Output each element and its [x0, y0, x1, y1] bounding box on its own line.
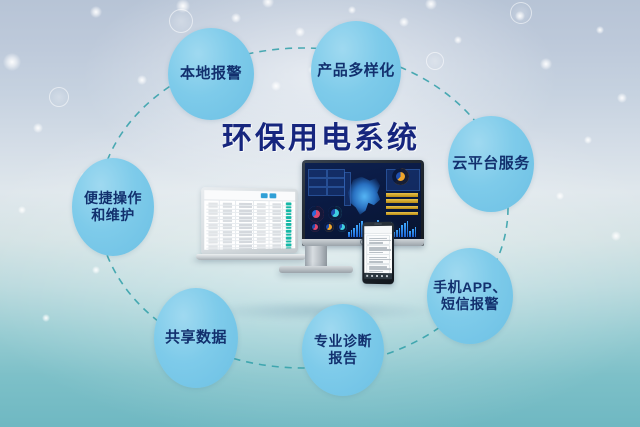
table-cell — [208, 224, 217, 226]
laptop-device — [196, 188, 306, 270]
dashboard-bar — [359, 223, 361, 237]
bubble-label: 手机APP、 短信报警 — [433, 279, 507, 312]
dashboard-alert-tile — [386, 199, 417, 203]
bubble-label: 产品多样化 — [317, 62, 395, 80]
table-cell — [223, 220, 232, 222]
dashboard-donut-gauge — [392, 168, 409, 185]
table-cell — [223, 209, 232, 211]
phone-bottom-nav[interactable] — [364, 273, 392, 279]
laptop-lid — [201, 187, 298, 255]
table-cell — [208, 213, 217, 215]
infographic-canvas: 环保用电系统 本地报警产品多样化云平台服务手机APP、 短信报警专业诊断 报告共… — [0, 0, 640, 427]
bubble-shared-data[interactable]: 共享数据 — [154, 288, 238, 388]
dashboard-alert-tile — [386, 193, 417, 197]
bubble-label: 共享数据 — [165, 329, 227, 347]
dashboard-bar — [399, 228, 401, 237]
phone-device — [362, 222, 394, 284]
table-cell — [223, 213, 232, 215]
dashboard-bar — [348, 232, 350, 237]
dashboard-donut-gauge — [310, 222, 320, 232]
monitor-stand-neck — [305, 246, 327, 268]
table-cell — [257, 217, 266, 219]
laptop-keyboard-deck — [195, 254, 306, 260]
nav-item-icon[interactable] — [381, 275, 383, 277]
bubble-cloud-platform[interactable]: 云平台服务 — [448, 116, 534, 212]
nav-item-icon[interactable] — [366, 275, 368, 277]
dashboard-alert-tile — [386, 206, 417, 210]
table-cell — [257, 231, 266, 233]
page-title: 环保用电系统 — [222, 113, 420, 157]
table-cell — [272, 213, 281, 215]
table-cell — [223, 206, 232, 208]
list-item[interactable] — [366, 254, 390, 264]
device-cluster — [196, 160, 436, 320]
table-cell — [208, 249, 217, 250]
phone-app-header — [364, 226, 392, 234]
bubble-diagnostic-report[interactable]: 专业诊断 报告 — [302, 304, 384, 396]
table-cell — [239, 217, 252, 219]
table-cell — [272, 248, 281, 250]
dashboard-kpi-panel — [308, 178, 326, 187]
table-cell — [257, 213, 266, 215]
nav-item-icon[interactable] — [386, 275, 388, 277]
table-cell — [239, 213, 252, 215]
table-cell — [223, 231, 232, 233]
bubble-label: 云平台服务 — [452, 155, 530, 173]
table-action-button[interactable] — [261, 193, 268, 198]
table-cell — [272, 224, 281, 226]
table-cell — [257, 248, 266, 250]
list-item-text — [369, 252, 383, 254]
dashboard-bar — [353, 228, 355, 237]
table-cell — [223, 217, 232, 219]
dashboard-bar — [396, 230, 398, 237]
table-cell — [272, 210, 281, 212]
table-cell — [208, 227, 217, 229]
dashboard-kpi-panel — [327, 187, 345, 196]
list-item-text — [369, 261, 383, 263]
table-cell — [239, 220, 252, 222]
table-cell — [257, 224, 266, 226]
bubble-label: 专业诊断 报告 — [314, 333, 372, 366]
dashboard-bar — [401, 225, 403, 236]
bubble-label: 便捷操作 和维护 — [84, 190, 142, 223]
bubble-local-alarm[interactable]: 本地报警 — [168, 28, 254, 120]
table-cell — [223, 202, 232, 204]
dashboard-donut-gauge — [328, 206, 342, 220]
table-cell — [257, 210, 266, 212]
dashboard-side-label — [344, 172, 351, 206]
table-cell — [208, 209, 217, 211]
row-status-badge — [286, 247, 292, 250]
dashboard-donut-gauge — [308, 206, 324, 222]
nav-item-icon[interactable] — [376, 275, 378, 277]
table-cell — [239, 224, 252, 226]
table-cell — [208, 216, 217, 218]
table-cell — [272, 220, 281, 222]
table-cell — [208, 206, 217, 208]
dashboard-bar — [415, 227, 417, 237]
bubble-label: 本地报警 — [180, 65, 242, 83]
dashboard-bar — [351, 230, 353, 237]
laptop-screen — [204, 190, 295, 250]
table-cell — [257, 227, 266, 229]
phone-body — [362, 222, 394, 285]
china-map-visual — [347, 177, 382, 217]
dashboard-kpi-panel — [327, 178, 345, 187]
dashboard-bar — [356, 225, 358, 236]
table-row — [206, 247, 293, 250]
table-cell — [223, 224, 232, 226]
table-cell — [257, 206, 266, 208]
list-item-text — [369, 242, 383, 244]
table-action-button[interactable] — [270, 193, 277, 198]
table-cell — [272, 217, 281, 219]
dashboard-bar — [407, 221, 409, 237]
dashboard-donut-gauge — [337, 222, 347, 232]
list-item[interactable] — [366, 235, 390, 245]
dashboard-bar — [412, 229, 414, 237]
dashboard-alert-tile — [386, 212, 417, 216]
dashboard-kpi-panel — [308, 187, 326, 196]
table-cell — [239, 210, 252, 212]
dashboard-kpi-panel — [308, 169, 326, 178]
phone-screen — [364, 226, 392, 279]
table-cell — [208, 231, 217, 233]
phone-speaker-icon — [374, 223, 382, 225]
table-cell — [223, 234, 232, 236]
bubble-product-diversity[interactable]: 产品多样化 — [311, 21, 401, 121]
dashboard-donut-gauge — [324, 222, 334, 232]
table-cell — [223, 227, 232, 229]
dashboard-kpi-panel — [327, 169, 345, 178]
table-cell — [257, 220, 266, 222]
bubble-mobile-app-sms[interactable]: 手机APP、 短信报警 — [427, 248, 513, 344]
dashboard-bar — [409, 231, 411, 236]
dashboard-bar — [404, 223, 406, 237]
table-cell — [223, 248, 232, 249]
table-cell — [208, 220, 217, 222]
table-cell — [239, 248, 252, 250]
monitor-stand-base — [279, 266, 353, 273]
table-cell — [208, 202, 217, 204]
bubble-easy-operation[interactable]: 便捷操作 和维护 — [72, 158, 154, 256]
nav-item-icon[interactable] — [371, 275, 373, 277]
